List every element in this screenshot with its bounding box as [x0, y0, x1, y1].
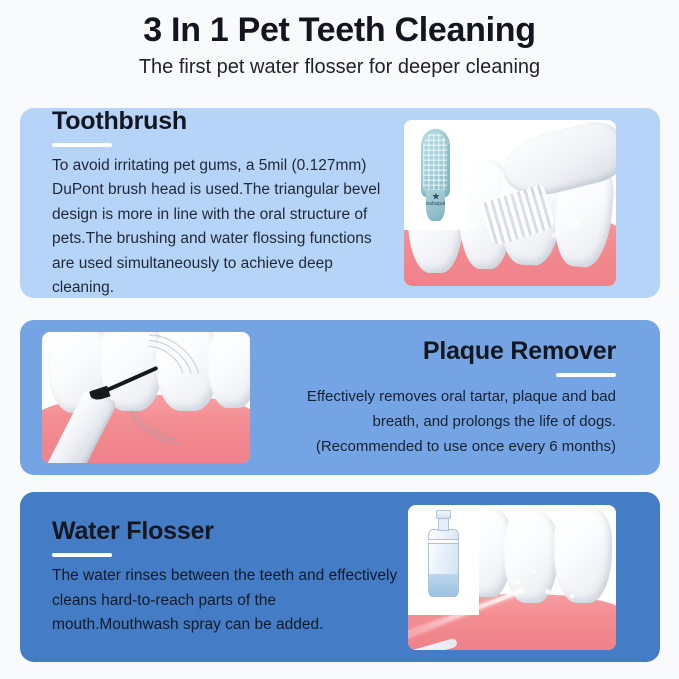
water-droplet: [533, 570, 536, 573]
brand-name: babapal: [404, 201, 468, 207]
page-subtitle: The first pet water flosser for deeper c…: [0, 53, 679, 81]
bottle-liquid-fill: [429, 574, 458, 597]
bottle-label-band: [428, 539, 458, 544]
tooth-shape: [504, 510, 558, 603]
brand-logo-mark: ★: [404, 192, 468, 201]
page-title: 3 In 1 Pet Teeth Cleaning: [0, 8, 679, 52]
toothbrush-divider: [52, 143, 112, 147]
plaque-remover-heading: Plaque Remover: [423, 336, 616, 366]
silicone-brush-tip: [421, 129, 450, 197]
feature-card-plaque-remover: Plaque Remover Effectively removes oral …: [20, 320, 660, 475]
water-droplet: [558, 574, 561, 577]
water-flosser-divider: [52, 553, 112, 557]
water-flosser-text-column: Water Flosser The water rinses between t…: [20, 516, 402, 638]
foam-bubble: [468, 186, 475, 193]
foam-bubble: [574, 220, 580, 226]
foam-bubble: [561, 203, 569, 211]
tooth-shape: [554, 505, 612, 604]
plaque-remover-illustration: [42, 332, 250, 463]
tooth-shape: [208, 332, 250, 408]
bottle-body: [428, 529, 459, 597]
foam-bubble: [470, 223, 478, 231]
water-flosser-description: The water rinses between the teeth and e…: [52, 564, 402, 638]
feature-card-water-flosser: Water Flosser The water rinses between t…: [20, 492, 660, 662]
brush-head-inset-photo: ★ babapal: [404, 120, 468, 230]
feature-card-toothbrush: Toothbrush To avoid irritating pet gums,…: [20, 108, 660, 298]
water-flosser-heading: Water Flosser: [52, 516, 214, 546]
toothbrush-illustration: ★ babapal: [404, 120, 616, 286]
plaque-remover-text-column: Plaque Remover Effectively removes oral …: [250, 336, 642, 459]
toothbrush-text-column: Toothbrush To avoid irritating pet gums,…: [20, 108, 398, 298]
plaque-remover-divider: [556, 373, 616, 377]
water-droplet: [545, 589, 550, 594]
toothbrush-heading: Toothbrush: [52, 108, 187, 136]
plaque-remover-line-2: breath, and prolongs the life of dogs.: [372, 409, 616, 434]
page-header: 3 In 1 Pet Teeth Cleaning The first pet …: [0, 0, 679, 81]
toothbrush-description: To avoid irritating pet gums, a 5mil (0.…: [52, 154, 398, 299]
plaque-remover-line-1: Effectively removes oral tartar, plaque …: [307, 384, 616, 409]
mouthwash-bottle-inset-photo: [408, 505, 479, 615]
bottle-cap: [436, 510, 452, 519]
plaque-remover-line-3: (Recommended to use once every 6 months): [316, 434, 616, 459]
water-flosser-illustration: [408, 505, 616, 650]
